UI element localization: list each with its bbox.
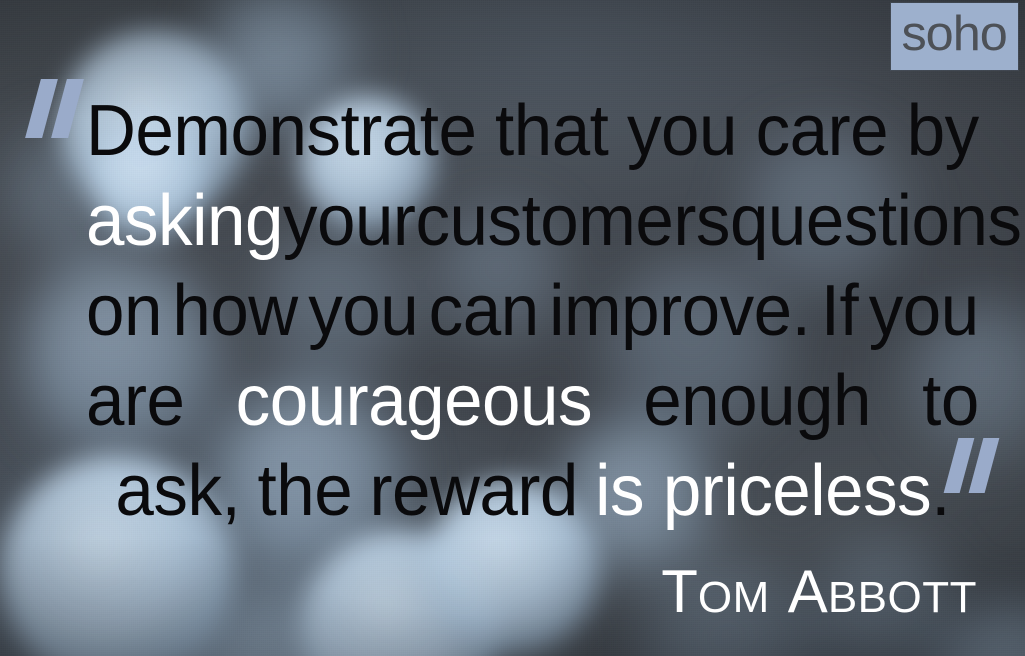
author-lastname-smallcaps: BBOTT <box>828 573 977 622</box>
quote-word: are <box>86 356 184 446</box>
quote-word: how <box>172 266 297 356</box>
quote-word: on <box>86 266 162 356</box>
quote-word-emphasis: priceless <box>663 446 931 536</box>
author-firstname-smallcaps: OM <box>698 573 770 622</box>
quote-word: you <box>308 266 418 356</box>
quote-word: can <box>429 266 539 356</box>
quote-word: ask, <box>115 446 240 536</box>
quote-graphic-canvas: soho Demonstratethatyoucareby askingyour… <box>0 0 1025 656</box>
quote-word: you <box>627 86 737 176</box>
quote-line: askingyourcustomersquestions <box>86 176 979 266</box>
quote-word: If <box>821 266 858 356</box>
quote-word-emphasis: is <box>595 446 644 536</box>
quote-word: you <box>869 266 979 356</box>
author-initial-last: A <box>788 558 828 625</box>
quote-word: by <box>907 86 979 176</box>
attribution-author: TOMABBOTT <box>661 562 977 622</box>
quote-word: that <box>495 86 608 176</box>
quote-word: enough <box>643 356 871 446</box>
quote-word-emphasis: asking <box>86 176 283 266</box>
quote-line: onhowyoucanimprove.Ifyou <box>86 266 979 356</box>
quote-word-group: is priceless. <box>595 446 950 536</box>
quote-word: your <box>283 176 416 266</box>
quote-word: improve. <box>549 266 810 356</box>
quote-line: arecourageousenoughto <box>86 356 979 446</box>
quote-line: ask,therewardis priceless. <box>86 446 950 536</box>
quote-word: customers <box>415 176 729 266</box>
quote-word: Demonstrate <box>86 86 476 176</box>
quote-word: care <box>756 86 889 176</box>
quote-word: the <box>258 446 353 536</box>
quote-word: reward <box>369 446 577 536</box>
quote-word-emphasis: courageous <box>236 356 592 446</box>
quote-line: Demonstratethatyoucareby <box>86 86 979 176</box>
author-initial-first: T <box>661 558 698 625</box>
quote-text-block: Demonstratethatyoucareby askingyourcusto… <box>86 86 981 536</box>
quote-word: to <box>922 356 979 446</box>
quote-word: . <box>931 446 950 536</box>
soho-logo-text: soho <box>902 10 1007 63</box>
soho-logo[interactable]: soho <box>891 3 1018 70</box>
quote-word: questions <box>730 176 1022 266</box>
